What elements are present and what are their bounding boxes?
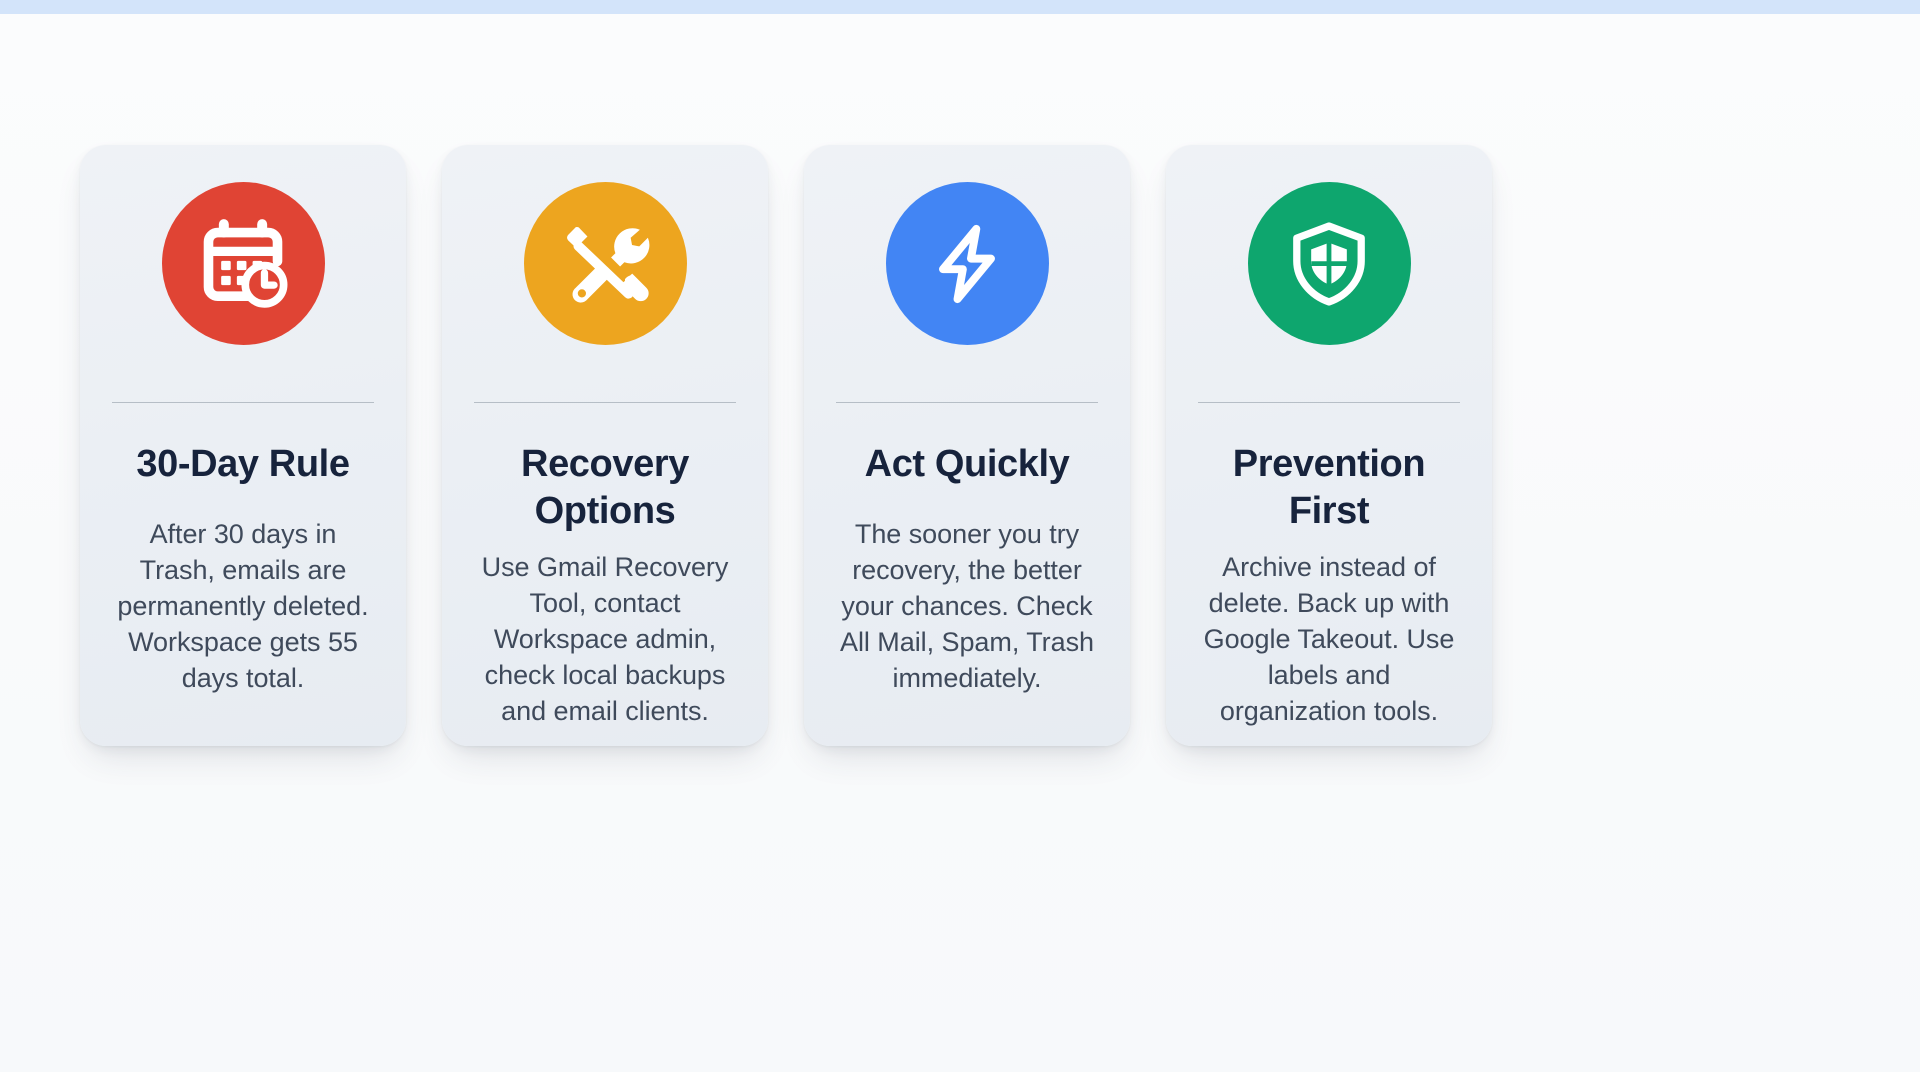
info-card-prevention-first[interactable]: Prevention First Archive instead of dele… xyxy=(1166,145,1492,746)
card-title: 30-Day Rule xyxy=(136,441,349,488)
calendar-clock-icon xyxy=(197,218,289,310)
tools-wrench-screwdriver-icon xyxy=(558,217,652,311)
icon-badge-tools xyxy=(524,182,687,345)
card-body-text: Archive instead of delete. Back up with … xyxy=(1196,549,1462,729)
card-body-text: Use Gmail Recovery Tool, contact Workspa… xyxy=(472,549,738,729)
shield-check-icon xyxy=(1283,218,1375,310)
info-cards-row: 30-Day Rule After 30 days in Trash, emai… xyxy=(80,145,1492,746)
card-body-text: The sooner you try recovery, the better … xyxy=(834,516,1100,696)
card-divider xyxy=(1198,402,1460,403)
card-divider xyxy=(474,402,736,403)
top-accent-band xyxy=(0,0,1920,14)
card-title: Recovery Options xyxy=(472,441,738,535)
card-title: Prevention First xyxy=(1196,441,1462,535)
card-divider xyxy=(836,402,1098,403)
card-divider xyxy=(112,402,374,403)
lightning-bolt-icon xyxy=(924,221,1010,307)
card-title: Act Quickly xyxy=(865,441,1070,488)
icon-badge-lightning xyxy=(886,182,1049,345)
icon-badge-shield xyxy=(1248,182,1411,345)
icon-badge-calendar-clock xyxy=(162,182,325,345)
info-card-recovery-options[interactable]: Recovery Options Use Gmail Recovery Tool… xyxy=(442,145,768,746)
info-card-thirty-day-rule[interactable]: 30-Day Rule After 30 days in Trash, emai… xyxy=(80,145,406,746)
info-card-act-quickly[interactable]: Act Quickly The sooner you try recovery,… xyxy=(804,145,1130,746)
card-body-text: After 30 days in Trash, emails are perma… xyxy=(110,516,376,696)
